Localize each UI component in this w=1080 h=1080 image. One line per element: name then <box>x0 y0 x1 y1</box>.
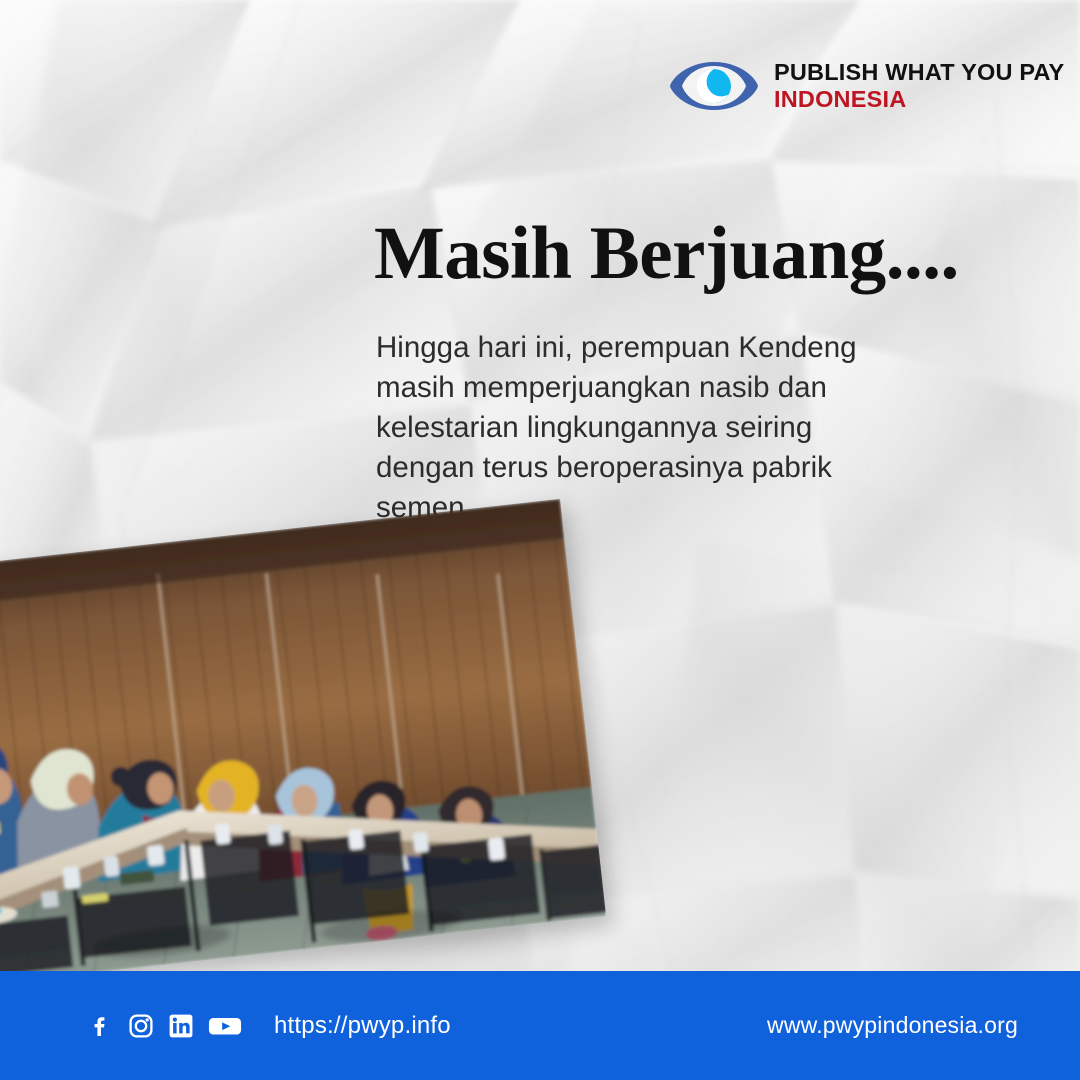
facebook-icon[interactable] <box>88 1013 114 1039</box>
footer-url-left[interactable]: https://pwyp.info <box>274 1012 451 1040</box>
logo-wordmark: PUBLISH WHAT YOU PAY INDONESIA <box>774 61 1064 112</box>
footer-url-right[interactable]: www.pwypindonesia.org <box>767 971 1018 1080</box>
poster-canvas: PUBLISH WHAT YOU PAY INDONESIA Masih Ber… <box>0 0 1080 1080</box>
meeting-photo <box>0 499 606 987</box>
body-paragraph: Hingga hari ini, perempuan Kendeng masih… <box>376 328 888 528</box>
brand-logo: PUBLISH WHAT YOU PAY INDONESIA <box>668 58 1064 114</box>
footer-bar: https://pwyp.info www.pwypindonesia.org <box>0 971 1080 1080</box>
instagram-icon[interactable] <box>128 1013 154 1039</box>
logo-line-2: INDONESIA <box>774 88 1064 112</box>
eye-icon <box>668 58 760 114</box>
logo-line-1: PUBLISH WHAT YOU PAY <box>774 61 1064 85</box>
footer-social-group: https://pwyp.info <box>88 971 451 1080</box>
linkedin-icon[interactable] <box>168 1013 194 1039</box>
page-title: Masih Berjuang.... <box>374 214 959 294</box>
youtube-icon[interactable] <box>208 1013 242 1039</box>
